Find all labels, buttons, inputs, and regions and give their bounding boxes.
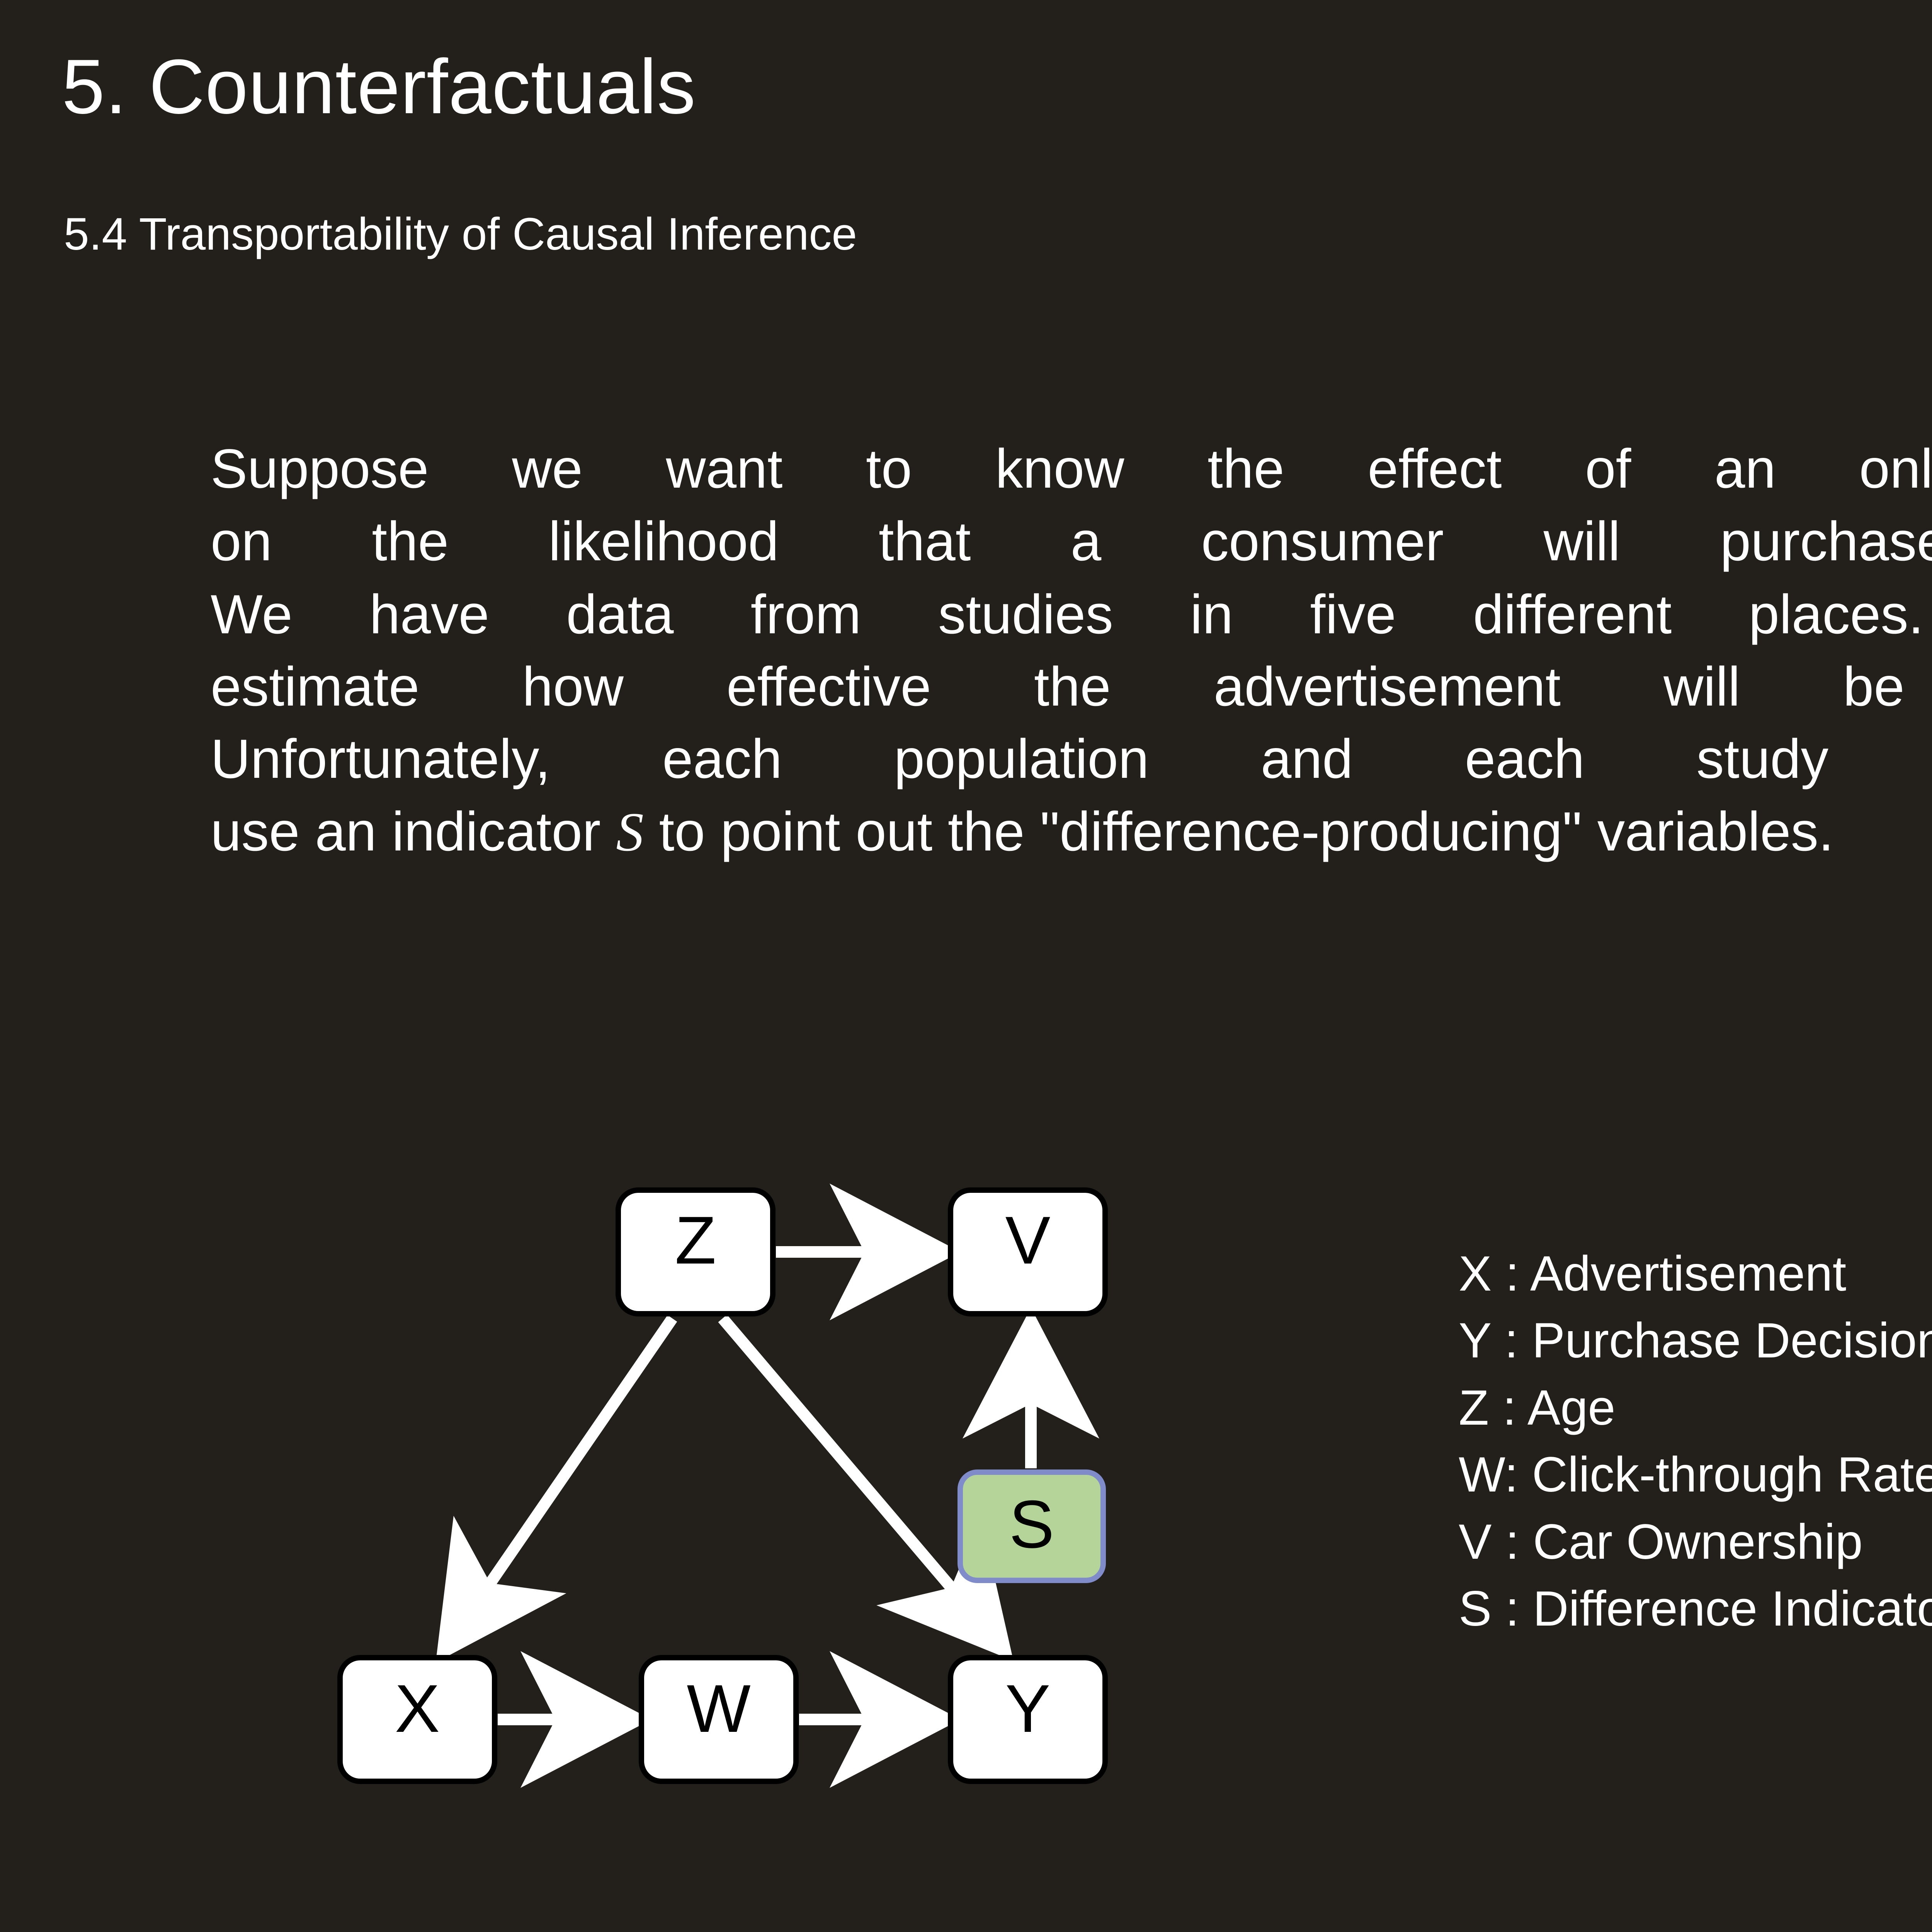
paragraph-line: onthelikelihoodthataconsumerwillpurchase…	[211, 505, 1932, 578]
dag-node-z[interactable]: Z	[618, 1190, 773, 1314]
paragraph-line: Unfortunately,eachpopulationandeachstudy…	[211, 723, 1932, 795]
paragraph-line: estimatehoweffectivetheadvertisementwill…	[211, 651, 1932, 723]
dag-node-label: V	[1005, 1203, 1051, 1278]
dag-node-x[interactable]: X	[340, 1658, 495, 1781]
legend-item: X : Advertisement	[1459, 1240, 1932, 1307]
legend-item: Z : Age	[1459, 1374, 1932, 1441]
dag-node-v[interactable]: V	[951, 1190, 1105, 1314]
paragraph-line: We have data from studies in five differ…	[211, 578, 1932, 651]
legend-item: V : Car Ownership	[1459, 1509, 1932, 1575]
dag-nodes: Z V S X W Y	[340, 1190, 1105, 1781]
legend-item: Y : Purchase Decision	[1459, 1307, 1932, 1374]
causal-dag-diagram: Z V S X W Y	[301, 1167, 1151, 1824]
variable-legend: X : Advertisement Y : Purchase Decision …	[1459, 1240, 1932, 1643]
dag-node-label: W	[687, 1671, 750, 1747]
edge-z-x	[450, 1318, 672, 1641]
dag-node-y[interactable]: Y	[951, 1658, 1105, 1781]
paragraph-line: use an indicator S to point out the "dif…	[211, 796, 1932, 868]
dag-node-w[interactable]: W	[641, 1658, 796, 1781]
page-title: 5. Counterfactuals	[62, 46, 696, 128]
dag-edges	[450, 1252, 1031, 1719]
paragraph-line: Suppose we want to know the effect of an…	[211, 433, 1932, 505]
body-paragraph: Suppose we want to know the effect of an…	[211, 433, 1932, 868]
dag-node-label: X	[395, 1671, 440, 1747]
dag-node-label: Y	[1005, 1671, 1051, 1747]
legend-item: S : Difference Indicator	[1459, 1575, 1932, 1642]
page-subtitle: 5.4 Transportability of Causal Inference	[64, 211, 857, 259]
dag-node-label: Z	[675, 1203, 716, 1278]
legend-item: W: Click-through Rate	[1459, 1441, 1932, 1508]
dag-node-s[interactable]: S	[960, 1472, 1103, 1580]
edge-z-y	[723, 1318, 997, 1641]
dag-node-label: S	[1009, 1487, 1054, 1562]
